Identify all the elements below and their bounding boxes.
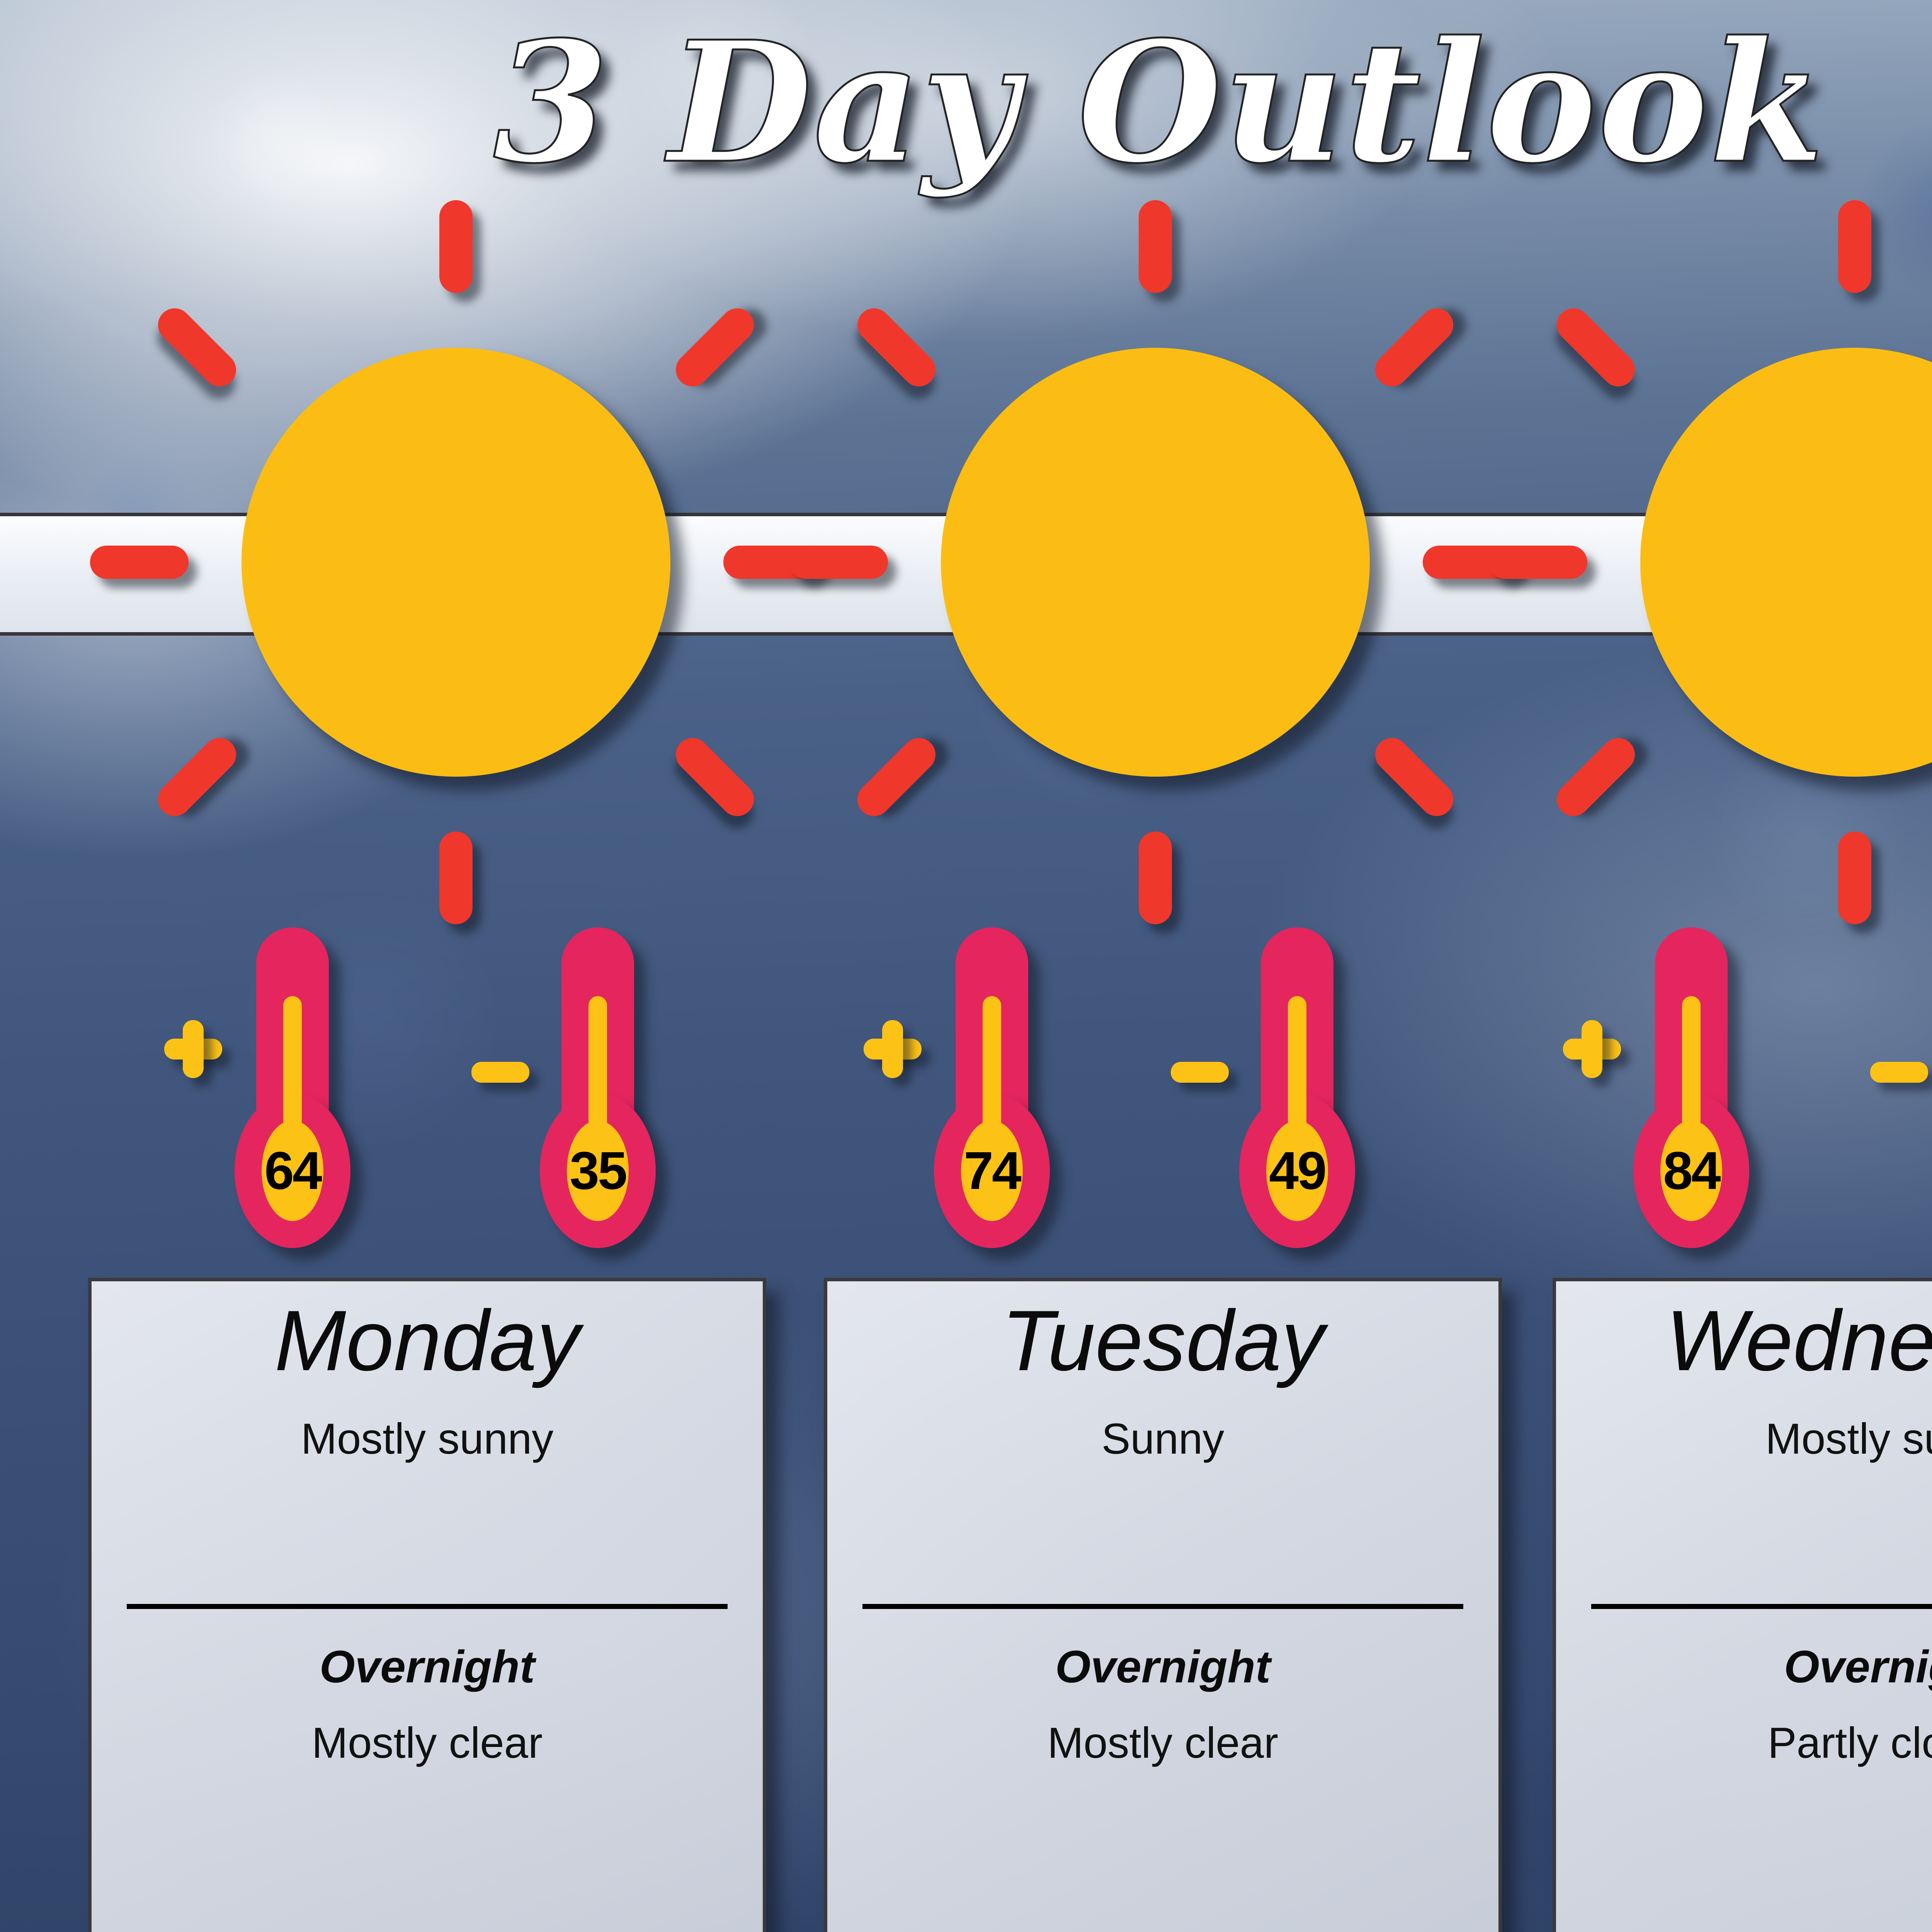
temperature-value: 74 [964, 1144, 1020, 1197]
day-condition: Sunny [1102, 1414, 1225, 1464]
day-name: Monday [275, 1296, 580, 1386]
plus-bar-vertical [1582, 1020, 1602, 1078]
thermometer-low: 35 [531, 927, 663, 1252]
sun-ray-n [439, 200, 473, 293]
plus-bar-vertical [183, 1020, 204, 1078]
forecast-graphic: 3 Day Outlook [0, 0, 1932, 1932]
card-divider [127, 1604, 728, 1609]
sun-disc [941, 348, 1370, 777]
thermometer-bulb-inner: 84 [1660, 1121, 1722, 1221]
overnight-label: Overnight [92, 1641, 763, 1693]
thermometer-high: 64 [226, 927, 357, 1252]
sun-disc [241, 348, 670, 777]
sun-ray-ne [1368, 301, 1460, 393]
sun-ray-w [1489, 546, 1587, 579]
minus-bar-horizontal [471, 1062, 529, 1083]
temperature-value: 64 [264, 1144, 321, 1197]
thermometer-high: 84 [1625, 927, 1756, 1252]
sun-ray-s [1139, 832, 1172, 924]
sun-ray-nw [1550, 301, 1642, 393]
thermometer-low: 49 [1231, 927, 1362, 1252]
minus-bar-horizontal [1870, 1062, 1928, 1083]
minus-sign-icon [469, 1039, 531, 1105]
sun-ray-se [1368, 731, 1460, 823]
plus-bar-vertical [882, 1020, 903, 1078]
temperature-value: 49 [1269, 1144, 1325, 1197]
sun-ray-se [669, 731, 761, 823]
sun-icon [241, 348, 670, 777]
plus-sign-icon [862, 1016, 923, 1082]
card-divider [1591, 1604, 1932, 1609]
sun-ray-ne [669, 301, 761, 393]
sun-ray-nw [151, 301, 243, 393]
overnight-label: Overnight [827, 1641, 1498, 1693]
thermometer-bulb-inner: 64 [262, 1121, 323, 1221]
thermometer-bulb-inner: 74 [961, 1121, 1023, 1221]
temperature-value: 84 [1663, 1144, 1719, 1197]
day-card-tuesday[interactable]: Tuesday Sunny Overnight Mostly clear [824, 1278, 1502, 1932]
plus-sign-icon [1561, 1016, 1623, 1082]
day-card-wednesday[interactable]: Wednesday Mostly sunny Overnight Partly … [1553, 1278, 1932, 1932]
sun-ray-s [1838, 832, 1871, 924]
sun-icon [1640, 348, 1932, 777]
sun-ray-n [1838, 200, 1871, 293]
card-divider [862, 1604, 1463, 1609]
thermometer-high: 74 [925, 927, 1057, 1252]
temperature-value: 35 [570, 1144, 626, 1197]
overnight-condition: Mostly clear [92, 1718, 763, 1768]
sun-ray-sw [151, 731, 243, 823]
day-name: Wednesday [1666, 1296, 1932, 1386]
sun-ray-w [789, 546, 888, 579]
day-condition: Mostly sunny [301, 1414, 554, 1464]
day-card-monday[interactable]: Monday Mostly sunny Overnight Mostly cle… [88, 1278, 766, 1932]
sun-ray-n [1139, 200, 1172, 293]
thermometer-bulb-inner: 49 [1266, 1121, 1328, 1221]
overnight-condition: Partly cloudy [1556, 1718, 1932, 1768]
sun-disc [1640, 348, 1932, 777]
overnight-condition: Mostly clear [827, 1718, 1498, 1768]
day-name: Tuesday [1002, 1296, 1324, 1386]
overnight-label: Overnight [1556, 1641, 1932, 1693]
minus-sign-icon [1169, 1039, 1231, 1105]
sun-icon [941, 348, 1370, 777]
sun-ray-s [439, 832, 473, 924]
day-condition: Mostly sunny [1765, 1414, 1932, 1464]
thermometer-bulb-inner: 35 [567, 1121, 629, 1221]
minus-sign-icon [1868, 1039, 1930, 1105]
sun-ray-sw [1550, 731, 1642, 823]
thermometer-low: 53 [1930, 927, 1932, 1252]
plus-sign-icon [162, 1016, 224, 1082]
minus-bar-horizontal [1171, 1062, 1229, 1083]
sun-ray-nw [850, 301, 942, 393]
sun-ray-sw [850, 731, 942, 823]
page-title: 3 Day Outlook [0, 15, 1932, 190]
sun-ray-w [90, 546, 189, 579]
